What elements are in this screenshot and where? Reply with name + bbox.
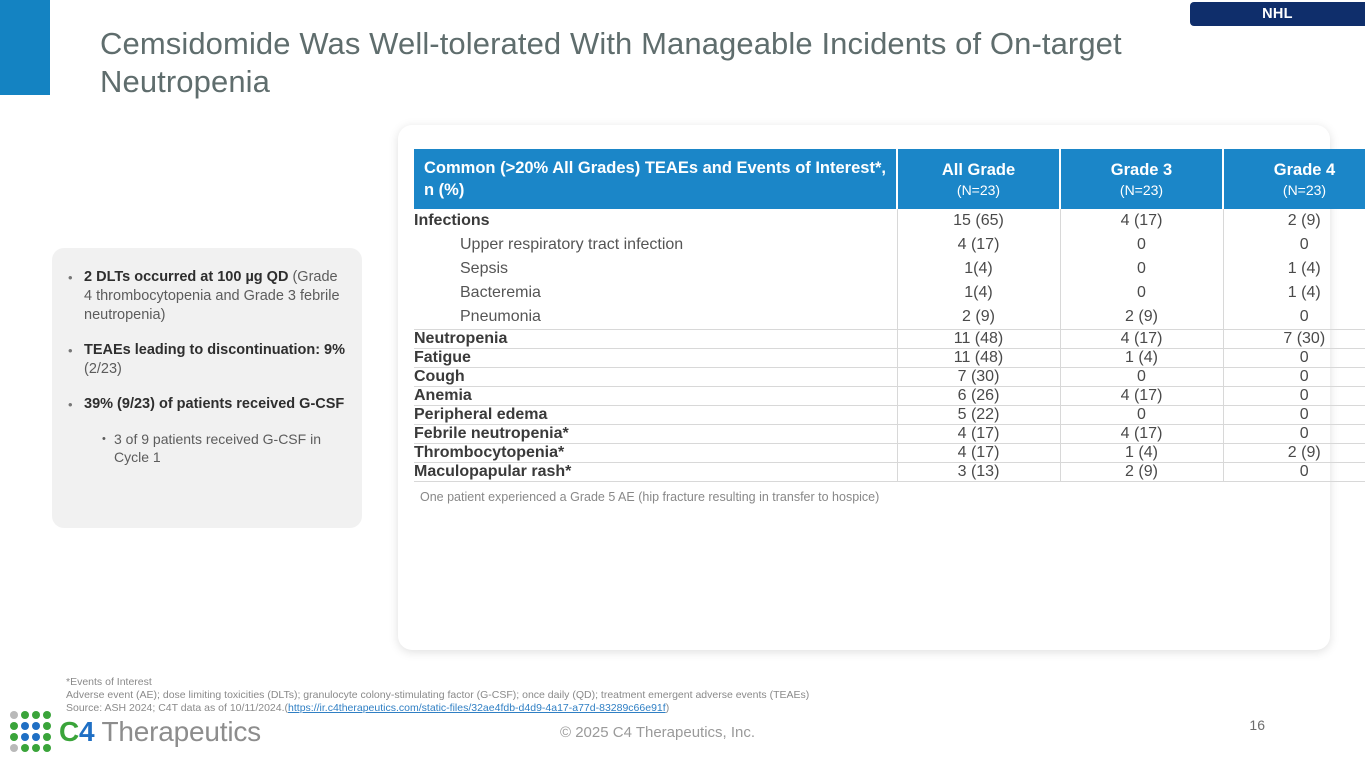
teae-table: Common (>20% All Grades) TEAEs and Event…	[414, 149, 1365, 482]
bullet-text: 39% (9/23) of patients received G-CSF	[84, 395, 346, 414]
column-header-grade4-n: (N=23)	[1234, 181, 1365, 199]
cell-label: Febrile neutropenia*	[414, 425, 897, 444]
cell-grade3: 2 (9)	[1060, 463, 1223, 482]
infections-group-label: Infections	[414, 209, 897, 233]
value: 0	[1061, 257, 1223, 281]
cell-label: Maculopapular rash*	[414, 463, 897, 482]
value: 1 (4)	[1224, 281, 1365, 305]
cell-grade3: 1 (4)	[1060, 444, 1223, 463]
table-row: Fatigue 11 (48) 1 (4) 0	[414, 349, 1365, 368]
cell-label: Cough	[414, 368, 897, 387]
cell-all-grade: 3 (13)	[897, 463, 1060, 482]
cell-label: Peripheral edema	[414, 406, 897, 425]
cell-all-grade: 7 (30)	[897, 368, 1060, 387]
cell-label: Fatigue	[414, 349, 897, 368]
footnote-source-link[interactable]: https://ir.c4therapeutics.com/static-fil…	[288, 702, 666, 714]
cell-grade4-infections: 2 (9) 0 1 (4) 1 (4) 0	[1223, 209, 1365, 330]
cell-label: Neutropenia	[414, 330, 897, 349]
page-number: 16	[1249, 717, 1265, 733]
indication-badge-label: NHL	[1262, 6, 1293, 22]
cell-grade3: 0	[1060, 368, 1223, 387]
logo-letter-c: C	[59, 716, 79, 747]
column-header-event-label: Common (>20% All Grades) TEAEs and Event…	[424, 157, 886, 201]
footnote-source-suffix: )	[666, 702, 670, 714]
column-header-grade4: Grade 4 (N=23)	[1223, 149, 1365, 209]
table-row-infections: Infections Upper respiratory tract infec…	[414, 209, 1365, 330]
cell-all-grade: 4 (17)	[897, 425, 1060, 444]
footnote-abbreviations: Adverse event (AE); dose limiting toxici…	[66, 689, 1066, 702]
cell-grade3: 4 (17)	[1060, 425, 1223, 444]
sub-bullet-text: 3 of 9 patients received G-CSF in Cycle …	[114, 430, 346, 466]
sub-list-item: • 3 of 9 patients received G-CSF in Cycl…	[102, 430, 346, 466]
table-header-row: Common (>20% All Grades) TEAEs and Event…	[414, 149, 1365, 209]
bullet-text: 2 DLTs occurred at 100 µg QD (Grade 4 th…	[84, 268, 346, 325]
cell-all-grade: 5 (22)	[897, 406, 1060, 425]
infections-sub-label: Pneumonia	[414, 305, 897, 329]
value: 0	[1224, 233, 1365, 257]
sub-bullet-dot-icon: •	[102, 430, 114, 466]
cell-label: Anemia	[414, 387, 897, 406]
value: 15 (65)	[898, 209, 1060, 233]
list-item: • 2 DLTs occurred at 100 µg QD (Grade 4 …	[68, 268, 346, 325]
column-header-event: Common (>20% All Grades) TEAEs and Event…	[414, 149, 897, 209]
column-header-grade4-label: Grade 4	[1234, 159, 1365, 181]
value: 2 (9)	[1061, 305, 1223, 329]
table-body: Infections Upper respiratory tract infec…	[414, 209, 1365, 482]
value: 1(4)	[898, 281, 1060, 305]
value: 1 (4)	[1224, 257, 1365, 281]
column-header-grade3-n: (N=23)	[1071, 181, 1212, 199]
table-row: Thrombocytopenia* 4 (17) 1 (4) 2 (9)	[414, 444, 1365, 463]
table-row: Cough 7 (30) 0 0	[414, 368, 1365, 387]
teae-table-card: Common (>20% All Grades) TEAEs and Event…	[398, 125, 1330, 650]
value: 0	[1061, 233, 1223, 257]
value: 4 (17)	[898, 233, 1060, 257]
logo-letter-4: 4	[79, 716, 94, 747]
bullet-text-bold: 2 DLTs occurred at 100 µg QD	[84, 269, 288, 285]
infections-sub-label: Upper respiratory tract infection	[414, 233, 897, 257]
value: 0	[1061, 281, 1223, 305]
table-row: Febrile neutropenia* 4 (17) 4 (17) 0	[414, 425, 1365, 444]
cell-label: Thrombocytopenia*	[414, 444, 897, 463]
cell-grade4: 0	[1223, 387, 1365, 406]
cell-all-grade: 4 (17)	[897, 444, 1060, 463]
infections-sub-label: Bacteremia	[414, 281, 897, 305]
cell-grade3-infections: 4 (17) 0 0 0 2 (9)	[1060, 209, 1223, 330]
list-item: • 39% (9/23) of patients received G-CSF	[68, 395, 346, 414]
indication-badge-nhl: NHL	[1190, 2, 1365, 26]
table-row: Neutropenia 11 (48) 4 (17) 7 (30)	[414, 330, 1365, 349]
cell-grade4: 0	[1223, 368, 1365, 387]
page-title: Cemsidomide Was Well-tolerated With Mana…	[100, 25, 1280, 101]
infections-sub-label: Sepsis	[414, 257, 897, 281]
column-header-all-grade-label: All Grade	[908, 159, 1049, 181]
column-header-grade3: Grade 3 (N=23)	[1060, 149, 1223, 209]
cell-grade4: 0	[1223, 463, 1365, 482]
value: 1(4)	[898, 257, 1060, 281]
bullet-dot-icon: •	[68, 268, 84, 325]
cell-label-infections: Infections Upper respiratory tract infec…	[414, 209, 897, 330]
cell-grade4: 0	[1223, 425, 1365, 444]
cell-grade4: 7 (30)	[1223, 330, 1365, 349]
cell-grade3: 4 (17)	[1060, 330, 1223, 349]
footnote-events-of-interest: *Events of Interest	[66, 676, 1066, 689]
cell-all-grade: 11 (48)	[897, 349, 1060, 368]
copyright-text: © 2025 C4 Therapeutics, Inc.	[560, 724, 755, 741]
bullet-text-bold: TEAEs leading to discontinuation: 9%	[84, 342, 345, 358]
cell-grade3: 1 (4)	[1060, 349, 1223, 368]
value: 2 (9)	[1224, 209, 1365, 233]
table-row: Maculopapular rash* 3 (13) 2 (9) 0	[414, 463, 1365, 482]
table-header: Common (>20% All Grades) TEAEs and Event…	[414, 149, 1365, 209]
cell-grade3: 4 (17)	[1060, 387, 1223, 406]
cell-grade4: 2 (9)	[1223, 444, 1365, 463]
cell-grade3: 0	[1060, 406, 1223, 425]
key-findings-panel: • 2 DLTs occurred at 100 µg QD (Grade 4 …	[52, 248, 362, 528]
footnotes: *Events of Interest Adverse event (AE); …	[66, 676, 1066, 715]
bullet-text-bold: 39% (9/23) of patients received G-CSF	[84, 396, 344, 412]
column-header-all-grade: All Grade (N=23)	[897, 149, 1060, 209]
value: 0	[1224, 305, 1365, 329]
table-footnote: One patient experienced a Grade 5 AE (hi…	[414, 490, 1314, 504]
c4-therapeutics-logo: C4 Therapeutics	[10, 711, 261, 753]
bullet-text-regular: (2/23)	[84, 361, 122, 377]
list-item: • TEAEs leading to discontinuation: 9% (…	[68, 341, 346, 379]
column-header-all-grade-n: (N=23)	[908, 181, 1049, 199]
cell-all-grade: 6 (26)	[897, 387, 1060, 406]
column-header-grade3-label: Grade 3	[1071, 159, 1212, 181]
bullet-text: TEAEs leading to discontinuation: 9% (2/…	[84, 341, 346, 379]
value: 4 (17)	[1061, 209, 1223, 233]
value: 2 (9)	[898, 305, 1060, 329]
bullet-dot-icon: •	[68, 341, 84, 379]
logo-therapeutics: Therapeutics	[94, 716, 261, 747]
table-row: Peripheral edema 5 (22) 0 0	[414, 406, 1365, 425]
logo-dot-matrix-icon	[10, 711, 52, 753]
table-row: Anemia 6 (26) 4 (17) 0	[414, 387, 1365, 406]
cell-grade4: 0	[1223, 406, 1365, 425]
cell-grade4: 0	[1223, 349, 1365, 368]
cell-all-grade: 11 (48)	[897, 330, 1060, 349]
bullet-dot-icon: •	[68, 395, 84, 414]
accent-bar	[0, 0, 50, 95]
cell-all-grade-infections: 15 (65) 4 (17) 1(4) 1(4) 2 (9)	[897, 209, 1060, 330]
logo-wordmark: C4 Therapeutics	[59, 718, 261, 746]
